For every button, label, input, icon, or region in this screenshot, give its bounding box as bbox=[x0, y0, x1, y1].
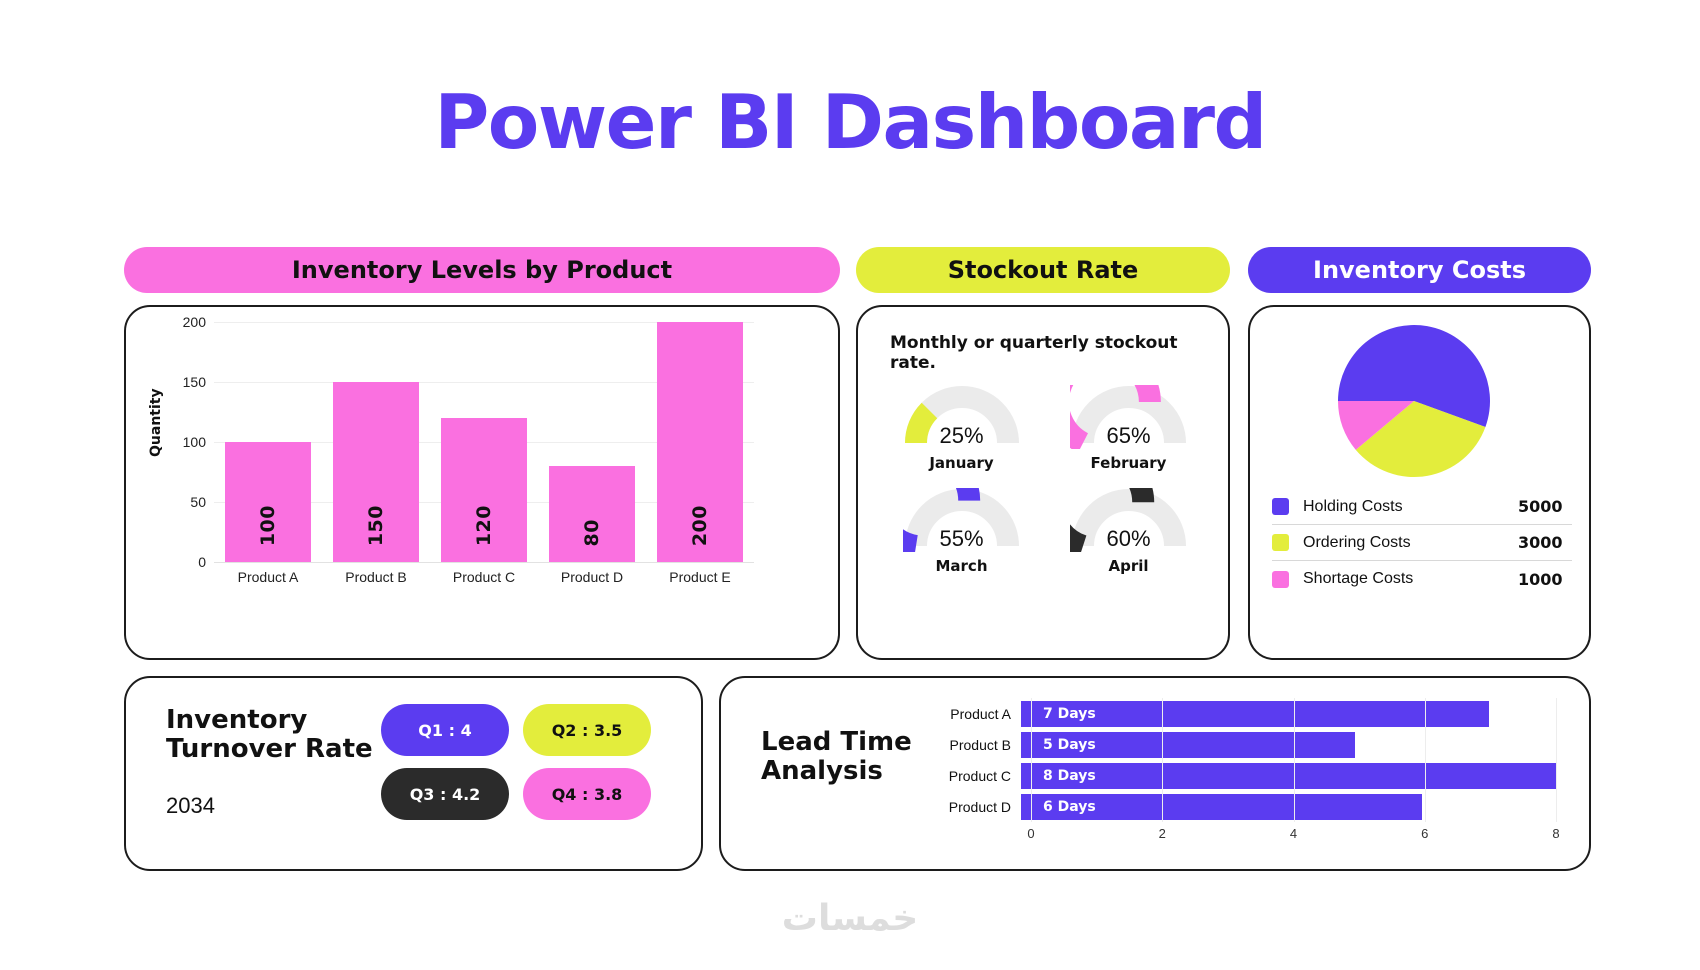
lead-time-category-label: Product B bbox=[936, 737, 1021, 753]
legend-swatch bbox=[1272, 534, 1289, 551]
lead-time-category-label: Product D bbox=[936, 799, 1021, 815]
legend-swatch bbox=[1272, 571, 1289, 588]
bar-value-label: 80 bbox=[581, 519, 603, 546]
grid-line bbox=[1294, 698, 1295, 822]
legend-swatch bbox=[1272, 498, 1289, 515]
page-title: Power BI Dashboard bbox=[0, 78, 1700, 166]
gauge-value-label: 25% bbox=[903, 423, 1021, 449]
quarter-pill-q1[interactable]: Q1 : 4 bbox=[381, 704, 509, 756]
legend-label: Ordering Costs bbox=[1303, 534, 1518, 552]
leadtime-title-line1: Lead Time bbox=[761, 727, 912, 757]
bar-plot-area: 10015012080200 bbox=[214, 322, 754, 562]
y-axis-tick-label: 100 bbox=[162, 434, 206, 450]
x-axis-tick-label: 4 bbox=[1290, 826, 1297, 841]
x-axis-tick-label: 8 bbox=[1552, 826, 1559, 841]
y-axis-tick-label: 50 bbox=[162, 494, 206, 510]
lead-time-track: 5 Days bbox=[1021, 732, 1556, 758]
legend-label: Shortage Costs bbox=[1303, 570, 1518, 588]
gauge-period-label: March bbox=[935, 557, 987, 575]
grid-line bbox=[1031, 698, 1032, 822]
bar[interactable]: 80 bbox=[549, 466, 635, 562]
leadtime-title-line2: Analysis bbox=[761, 756, 883, 786]
x-axis-tick-label: Product D bbox=[537, 569, 647, 585]
quarter-pill-q3[interactable]: Q3 : 4.2 bbox=[381, 768, 509, 820]
lead-time-bar[interactable]: 5 Days bbox=[1021, 732, 1355, 758]
legend-value: 5000 bbox=[1518, 497, 1572, 516]
bar-column[interactable]: 120 bbox=[441, 418, 527, 562]
pie-legend: Holding Costs5000Ordering Costs3000Short… bbox=[1272, 489, 1572, 597]
grid-line bbox=[1425, 698, 1426, 822]
gauge-arc: 55% bbox=[903, 488, 1021, 552]
gauge-january[interactable]: 25%January bbox=[878, 385, 1045, 472]
gauge-grid: 25%January65%February55%March60%April bbox=[878, 385, 1212, 575]
lead-time-row[interactable]: Product D6 Days bbox=[936, 791, 1556, 822]
turnover-title: Inventory Turnover Rate bbox=[166, 706, 396, 764]
x-axis-tick-label: 6 bbox=[1421, 826, 1428, 841]
gauge-period-label: April bbox=[1108, 557, 1148, 575]
bar-column[interactable]: 200 bbox=[657, 322, 743, 562]
gauge-period-label: January bbox=[929, 454, 993, 472]
bar-column[interactable]: 150 bbox=[333, 382, 419, 562]
gauge-value-label: 65% bbox=[1070, 423, 1188, 449]
lead-time-track: 8 Days bbox=[1021, 763, 1556, 789]
card-stockout-rate: Monthly or quarterly stockout rate. 25%J… bbox=[856, 305, 1230, 660]
lead-time-category-label: Product A bbox=[936, 706, 1021, 722]
grid-line bbox=[1556, 698, 1557, 822]
x-axis-tick-label: 2 bbox=[1159, 826, 1166, 841]
lead-time-bar[interactable]: 6 Days bbox=[1021, 794, 1422, 820]
gauge-arc: 25% bbox=[903, 385, 1021, 449]
panel-header-inventory-levels: Inventory Levels by Product bbox=[124, 247, 840, 293]
x-axis-tick-label: Product B bbox=[321, 569, 431, 585]
bar-column[interactable]: 80 bbox=[549, 466, 635, 562]
quarter-pill-grid: Q1 : 4Q2 : 3.5Q3 : 4.2Q4 : 3.8 bbox=[381, 704, 651, 820]
panel-header-stockout-rate: Stockout Rate bbox=[856, 247, 1230, 293]
bar[interactable]: 200 bbox=[657, 322, 743, 562]
gauge-april[interactable]: 60%April bbox=[1045, 488, 1212, 575]
x-axis-tick-label: Product E bbox=[645, 569, 755, 585]
quarter-pill-q4[interactable]: Q4 : 3.8 bbox=[523, 768, 651, 820]
card-inventory-turnover-rate: Inventory Turnover Rate 2034 Q1 : 4Q2 : … bbox=[124, 676, 703, 871]
bar[interactable]: 150 bbox=[333, 382, 419, 562]
turnover-title-line1: Inventory bbox=[166, 705, 307, 735]
lead-time-value-label: 8 Days bbox=[1043, 768, 1096, 784]
x-axis-tick-label: Product C bbox=[429, 569, 539, 585]
lead-time-bar[interactable]: 7 Days bbox=[1021, 701, 1489, 727]
gauge-value-label: 60% bbox=[1070, 526, 1188, 552]
gauge-february[interactable]: 65%February bbox=[1045, 385, 1212, 472]
lead-time-value-label: 5 Days bbox=[1043, 737, 1096, 753]
watermark: خمسات bbox=[0, 898, 1700, 939]
bar[interactable]: 120 bbox=[441, 418, 527, 562]
quarter-pill-q2[interactable]: Q2 : 3.5 bbox=[523, 704, 651, 756]
y-axis-tick-label: 200 bbox=[162, 314, 206, 330]
pie-svg bbox=[1338, 325, 1490, 477]
panel-header-label: Inventory Costs bbox=[1313, 256, 1526, 284]
panel-header-label: Stockout Rate bbox=[948, 256, 1139, 284]
legend-row[interactable]: Holding Costs5000 bbox=[1272, 489, 1572, 525]
pie-chart-inventory-costs bbox=[1338, 325, 1490, 482]
legend-row[interactable]: Ordering Costs3000 bbox=[1272, 525, 1572, 561]
lead-time-category-label: Product C bbox=[936, 768, 1021, 784]
dashboard-page: Power BI Dashboard Inventory Levels by P… bbox=[0, 0, 1700, 970]
gauge-arc: 65% bbox=[1070, 385, 1188, 449]
gauge-arc: 60% bbox=[1070, 488, 1188, 552]
turnover-year: 2034 bbox=[166, 793, 215, 819]
lead-time-track: 6 Days bbox=[1021, 794, 1556, 820]
card-inventory-costs: Holding Costs5000Ordering Costs3000Short… bbox=[1248, 305, 1591, 660]
legend-row[interactable]: Shortage Costs1000 bbox=[1272, 561, 1572, 597]
lead-time-bar[interactable]: 8 Days bbox=[1021, 763, 1556, 789]
legend-value: 1000 bbox=[1518, 570, 1572, 589]
bar[interactable]: 100 bbox=[225, 442, 311, 562]
leadtime-title: Lead Time Analysis bbox=[761, 728, 941, 786]
lead-time-row[interactable]: Product C8 Days bbox=[936, 760, 1556, 791]
turnover-title-line2: Turnover Rate bbox=[166, 734, 373, 764]
gauge-march[interactable]: 55%March bbox=[878, 488, 1045, 575]
panel-header-label: Inventory Levels by Product bbox=[292, 256, 672, 284]
legend-label: Holding Costs bbox=[1303, 498, 1518, 516]
y-axis-tick-label: 150 bbox=[162, 374, 206, 390]
x-axis-tick-label: Product A bbox=[213, 569, 323, 585]
bar-value-label: 200 bbox=[689, 505, 711, 546]
card-inventory-levels: Quantity 050100150200 10015012080200 Pro… bbox=[124, 305, 840, 660]
legend-value: 3000 bbox=[1518, 533, 1572, 552]
lead-time-value-label: 7 Days bbox=[1043, 706, 1096, 722]
bar-value-label: 150 bbox=[365, 505, 387, 546]
stockout-subtitle: Monthly or quarterly stockout rate. bbox=[890, 333, 1210, 373]
lead-time-bar-chart: Product A7 DaysProduct B5 DaysProduct C8… bbox=[936, 698, 1556, 848]
lead-time-value-label: 6 Days bbox=[1043, 799, 1096, 815]
lead-time-x-axis: 02468 bbox=[1031, 826, 1556, 846]
x-axis-tick-label: 0 bbox=[1027, 826, 1034, 841]
lead-time-track: 7 Days bbox=[1021, 701, 1556, 727]
lead-time-row[interactable]: Product B5 Days bbox=[936, 729, 1556, 760]
gauge-period-label: February bbox=[1091, 454, 1167, 472]
panel-header-inventory-costs: Inventory Costs bbox=[1248, 247, 1591, 293]
gauge-value-label: 55% bbox=[903, 526, 1021, 552]
bar-column[interactable]: 100 bbox=[225, 442, 311, 562]
bar-value-label: 100 bbox=[257, 505, 279, 546]
x-axis-line bbox=[214, 562, 754, 563]
card-lead-time-analysis: Lead Time Analysis Product A7 DaysProduc… bbox=[719, 676, 1591, 871]
lead-time-row[interactable]: Product A7 Days bbox=[936, 698, 1556, 729]
bar-chart-inventory-levels: Quantity 050100150200 10015012080200 Pro… bbox=[126, 307, 838, 658]
bar-value-label: 120 bbox=[473, 505, 495, 546]
grid-line bbox=[1162, 698, 1163, 822]
y-axis-tick-label: 0 bbox=[162, 554, 206, 570]
